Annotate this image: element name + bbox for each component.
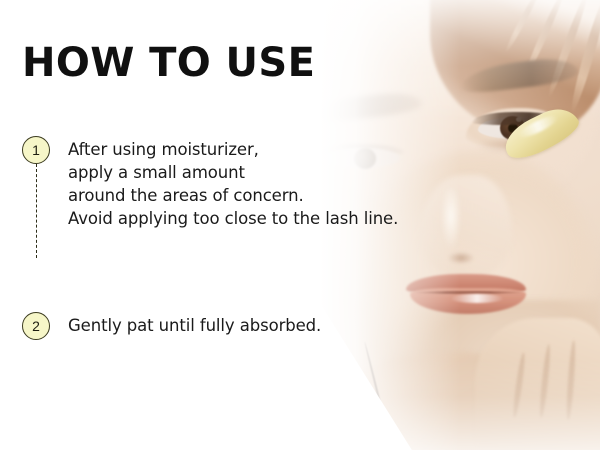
nose-highlight xyxy=(438,188,464,258)
step-item: 2 Gently pat until fully absorbed. xyxy=(22,312,422,340)
how-to-use-infographic: HOW TO USE 1 After using moisturizer, ap… xyxy=(0,0,600,450)
steps-list: 1 After using moisturizer, apply a small… xyxy=(22,136,422,340)
step-description: After using moisturizer, apply a small a… xyxy=(68,136,398,230)
step-description: Gently pat until fully absorbed. xyxy=(68,312,321,337)
eye-cream-swatch xyxy=(502,116,580,150)
step-item: 1 After using moisturizer, apply a small… xyxy=(22,136,422,230)
page-title: HOW TO USE xyxy=(22,40,315,86)
nostril xyxy=(446,252,476,264)
lips-region xyxy=(406,272,532,318)
hand-region xyxy=(475,318,600,450)
step-number-badge: 1 xyxy=(22,136,50,164)
step-number-badge: 2 xyxy=(22,312,50,340)
nose-region xyxy=(420,175,512,280)
lip-gloss-highlight xyxy=(450,294,504,303)
step-connector-line xyxy=(36,164,37,258)
